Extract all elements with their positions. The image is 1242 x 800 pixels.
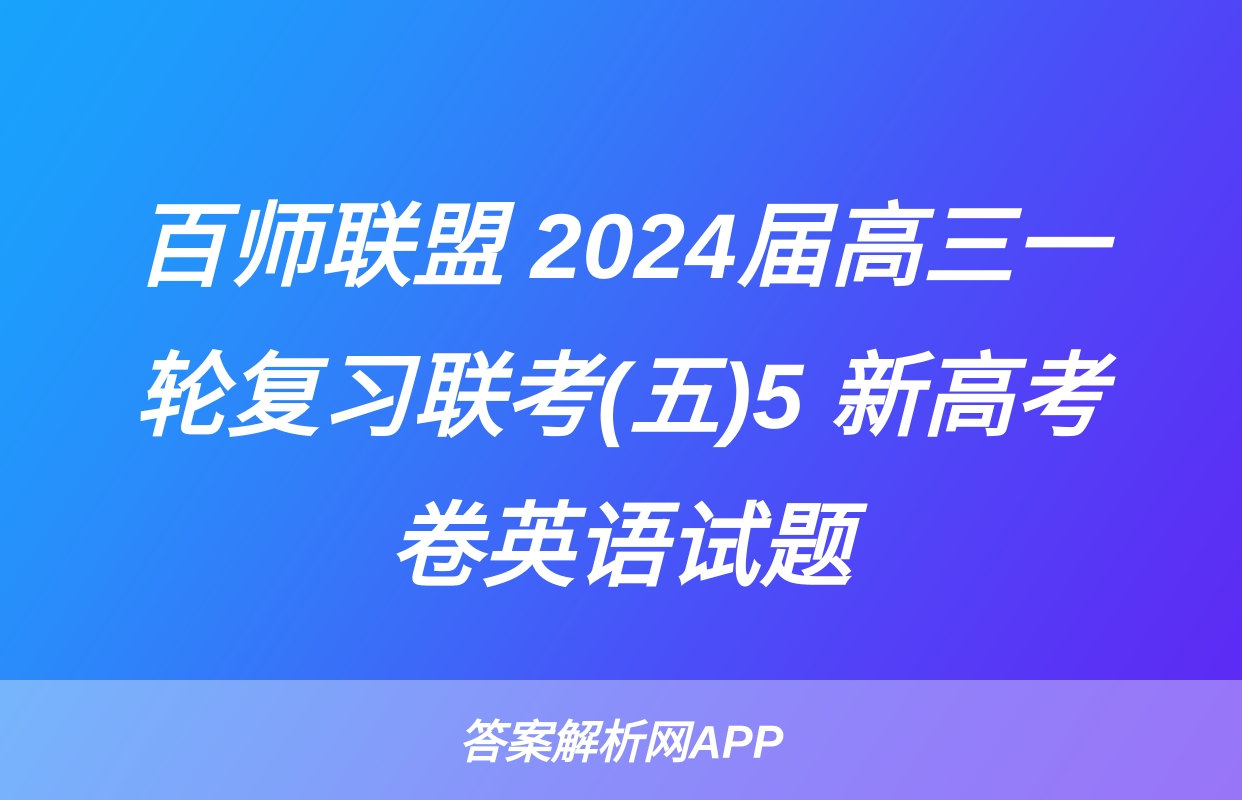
page-title: 百师联盟 2024届高三一 轮复习联考(五)5 新高考 卷英语试题 — [0, 172, 1242, 622]
title-line-3: 卷英语试题 — [70, 472, 1172, 622]
footer-watermark-band: 答案解析网APP — [0, 680, 1242, 800]
watermark-text: 答案解析网APP — [459, 719, 784, 765]
title-line-1: 百师联盟 2024届高三一 — [70, 172, 1172, 322]
title-line-2: 轮复习联考(五)5 新高考 — [70, 322, 1172, 472]
title-card: 百师联盟 2024届高三一 轮复习联考(五)5 新高考 卷英语试题 答案解析网A… — [0, 0, 1242, 800]
